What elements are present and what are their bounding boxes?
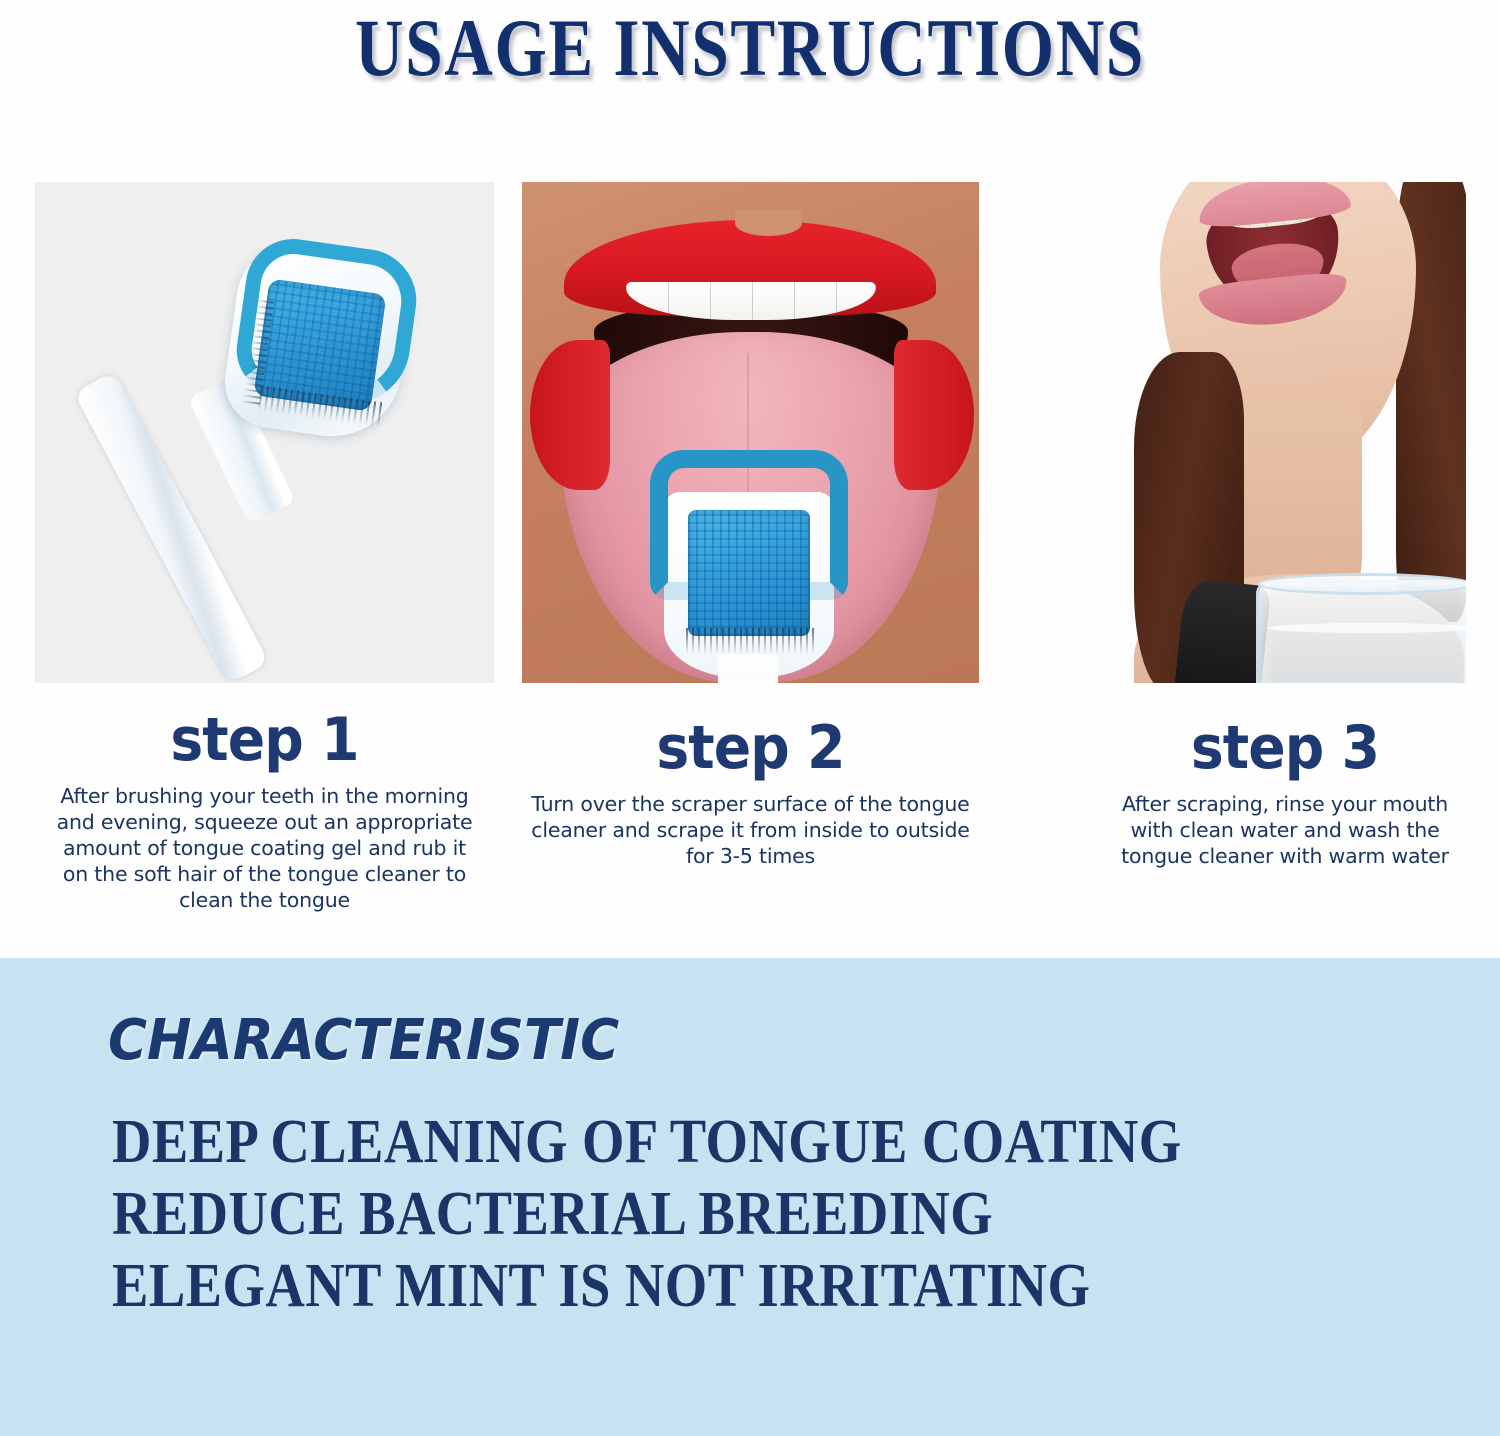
characteristic-heading: CHARACTERISTIC bbox=[108, 1012, 619, 1070]
scraper-bristle-fringe bbox=[686, 628, 814, 654]
water-glass bbox=[1256, 580, 1466, 683]
step-3-label: step 3 bbox=[1118, 717, 1451, 779]
feature-line: DEEP CLEANING OF TONGUE COATING bbox=[112, 1106, 1238, 1178]
tongue-cleaner-illustration bbox=[35, 182, 494, 683]
feature-line: ELEGANT MINT IS NOT IRRITATING bbox=[112, 1250, 1238, 1322]
usage-instructions-section: USAGE INSTRUCTIONS step 1 After brushing… bbox=[0, 0, 1500, 958]
step-card-2: step 2 Turn over the scraper surface of … bbox=[522, 182, 979, 869]
characteristic-feature-list: DEEP CLEANING OF TONGUE COATING REDUCE B… bbox=[112, 1106, 1392, 1322]
step-card-1: step 1 After brushing your teeth in the … bbox=[35, 182, 494, 913]
step-card-3: step 3 After scraping, rinse your mouth … bbox=[1104, 182, 1466, 869]
feature-line: REDUCE BACTERIAL BREEDING bbox=[112, 1178, 1238, 1250]
mouth-illustration bbox=[522, 182, 979, 683]
lower-lip-right bbox=[894, 340, 974, 490]
step-1-label: step 1 bbox=[53, 709, 475, 771]
step-2-label: step 2 bbox=[540, 717, 960, 779]
scraper-bristle-pad bbox=[688, 510, 810, 636]
scraper-handle bbox=[718, 654, 778, 683]
step-3-caption: After scraping, rinse your mouth with cl… bbox=[1104, 791, 1466, 869]
step-2-image bbox=[522, 182, 979, 683]
page-title: USAGE INSTRUCTIONS bbox=[135, 2, 1365, 94]
step-2-caption: Turn over the scraper surface of the ton… bbox=[522, 791, 979, 869]
step-1-caption: After brushing your teeth in the morning… bbox=[35, 783, 494, 913]
lower-lip-left bbox=[530, 340, 610, 490]
step-3-image bbox=[1104, 182, 1466, 683]
woman-rinsing-illustration bbox=[1104, 182, 1466, 683]
scraper-on-tongue bbox=[650, 450, 848, 640]
steps-row: step 1 After brushing your teeth in the … bbox=[0, 182, 1500, 952]
characteristic-section: CHARACTERISTIC DEEP CLEANING OF TONGUE C… bbox=[0, 958, 1500, 1436]
step-1-image bbox=[35, 182, 494, 683]
